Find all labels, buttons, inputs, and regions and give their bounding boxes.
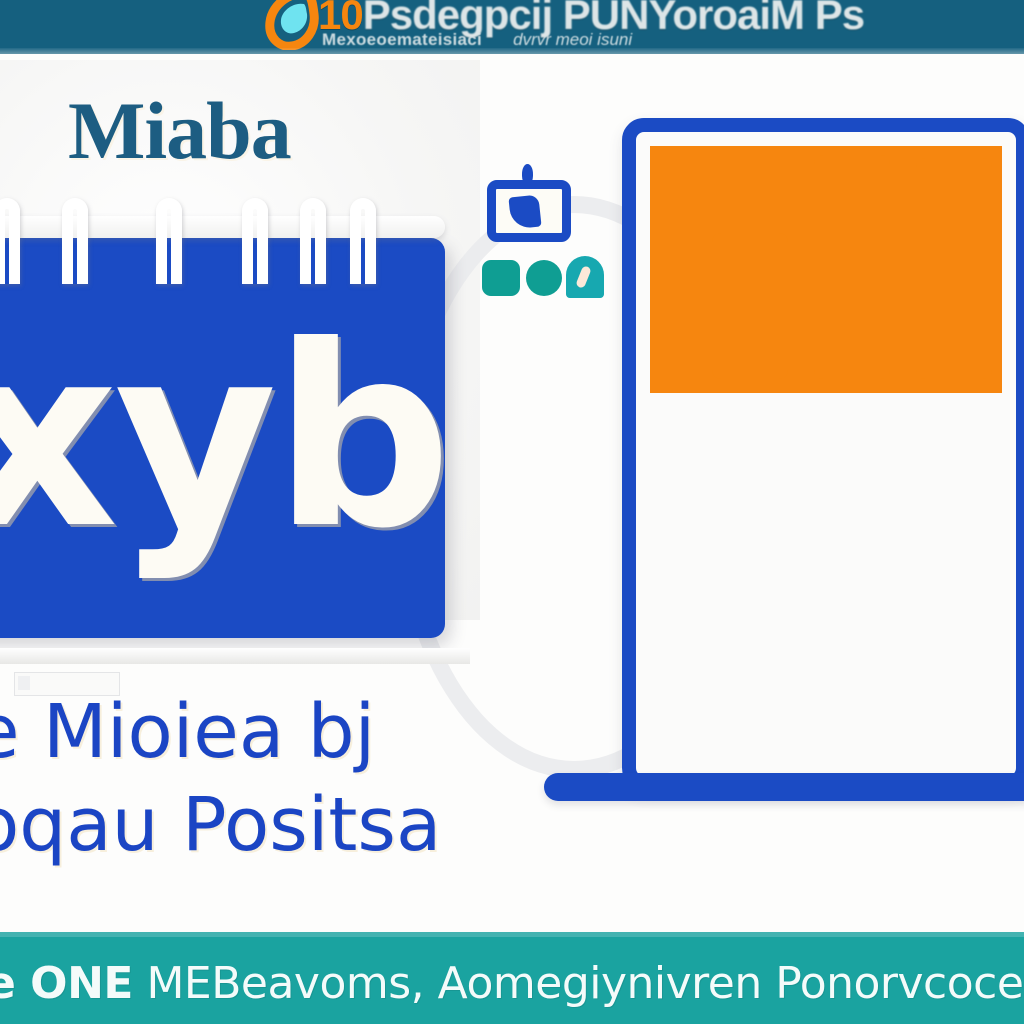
- bar-2: [814, 155, 890, 379]
- rounded-square-icon[interactable]: [482, 260, 520, 296]
- spiral-note-card[interactable]: xyb: [0, 198, 460, 648]
- body-line-2: oqau Positsa: [0, 779, 574, 872]
- spiral-ring-icon: [0, 198, 20, 298]
- banner-subtitle-main: Mexoeoemateisiaci: [322, 30, 482, 49]
- poster-canvas: 10Psdegpcij PUNYoroaiM Ps Mexoeoemateisi…: [0, 0, 1024, 1024]
- banner-subtitle-italic: dvrvr meoi isuni: [513, 30, 632, 49]
- spiral-ring-icon: [62, 198, 88, 298]
- spiral-ring-icon: [242, 198, 268, 298]
- bottom-banner-body: MEBeavoms, Aomegiynivren Ponorvcocentore…: [146, 958, 1024, 1009]
- spiral-ring-icon: [156, 198, 182, 298]
- teardrop-logo-icon: [262, 0, 322, 50]
- laptop-screen: [622, 118, 1024, 790]
- laptop-base: [544, 773, 1024, 801]
- bar-3: [916, 158, 992, 380]
- bar-1: [712, 233, 788, 379]
- bar-chart: [650, 146, 1002, 393]
- circle-icon[interactable]: [526, 260, 562, 296]
- spiral-ring-icon: [300, 198, 326, 298]
- shelf-divider: [0, 648, 470, 664]
- body-text-block: e Mioiea bj oqau Positsa: [0, 686, 574, 871]
- body-line-1: e Mioiea bj: [0, 686, 574, 779]
- bottom-banner: e ONE MEBeavoms, Aomegiynivren Ponorvcoc…: [0, 932, 1024, 1024]
- top-banner: 10Psdegpcij PUNYoroaiM Ps Mexoeoemateisi…: [0, 0, 1024, 54]
- banner-subtitle: Mexoeoemateisiaci dvrvr meoi isuni: [322, 30, 632, 50]
- page-title: Miaba: [68, 84, 291, 178]
- bottom-banner-text: e ONE MEBeavoms, Aomegiynivren Ponorvcoc…: [0, 958, 1024, 1009]
- laptop-illustration: [622, 118, 1024, 818]
- leaf-drop-icon[interactable]: [566, 256, 604, 298]
- card-label: xyb: [0, 238, 445, 638]
- spiral-ring-icon: [350, 198, 376, 298]
- bottom-banner-lead: e ONE: [0, 958, 133, 1009]
- icon-cluster: [482, 160, 602, 310]
